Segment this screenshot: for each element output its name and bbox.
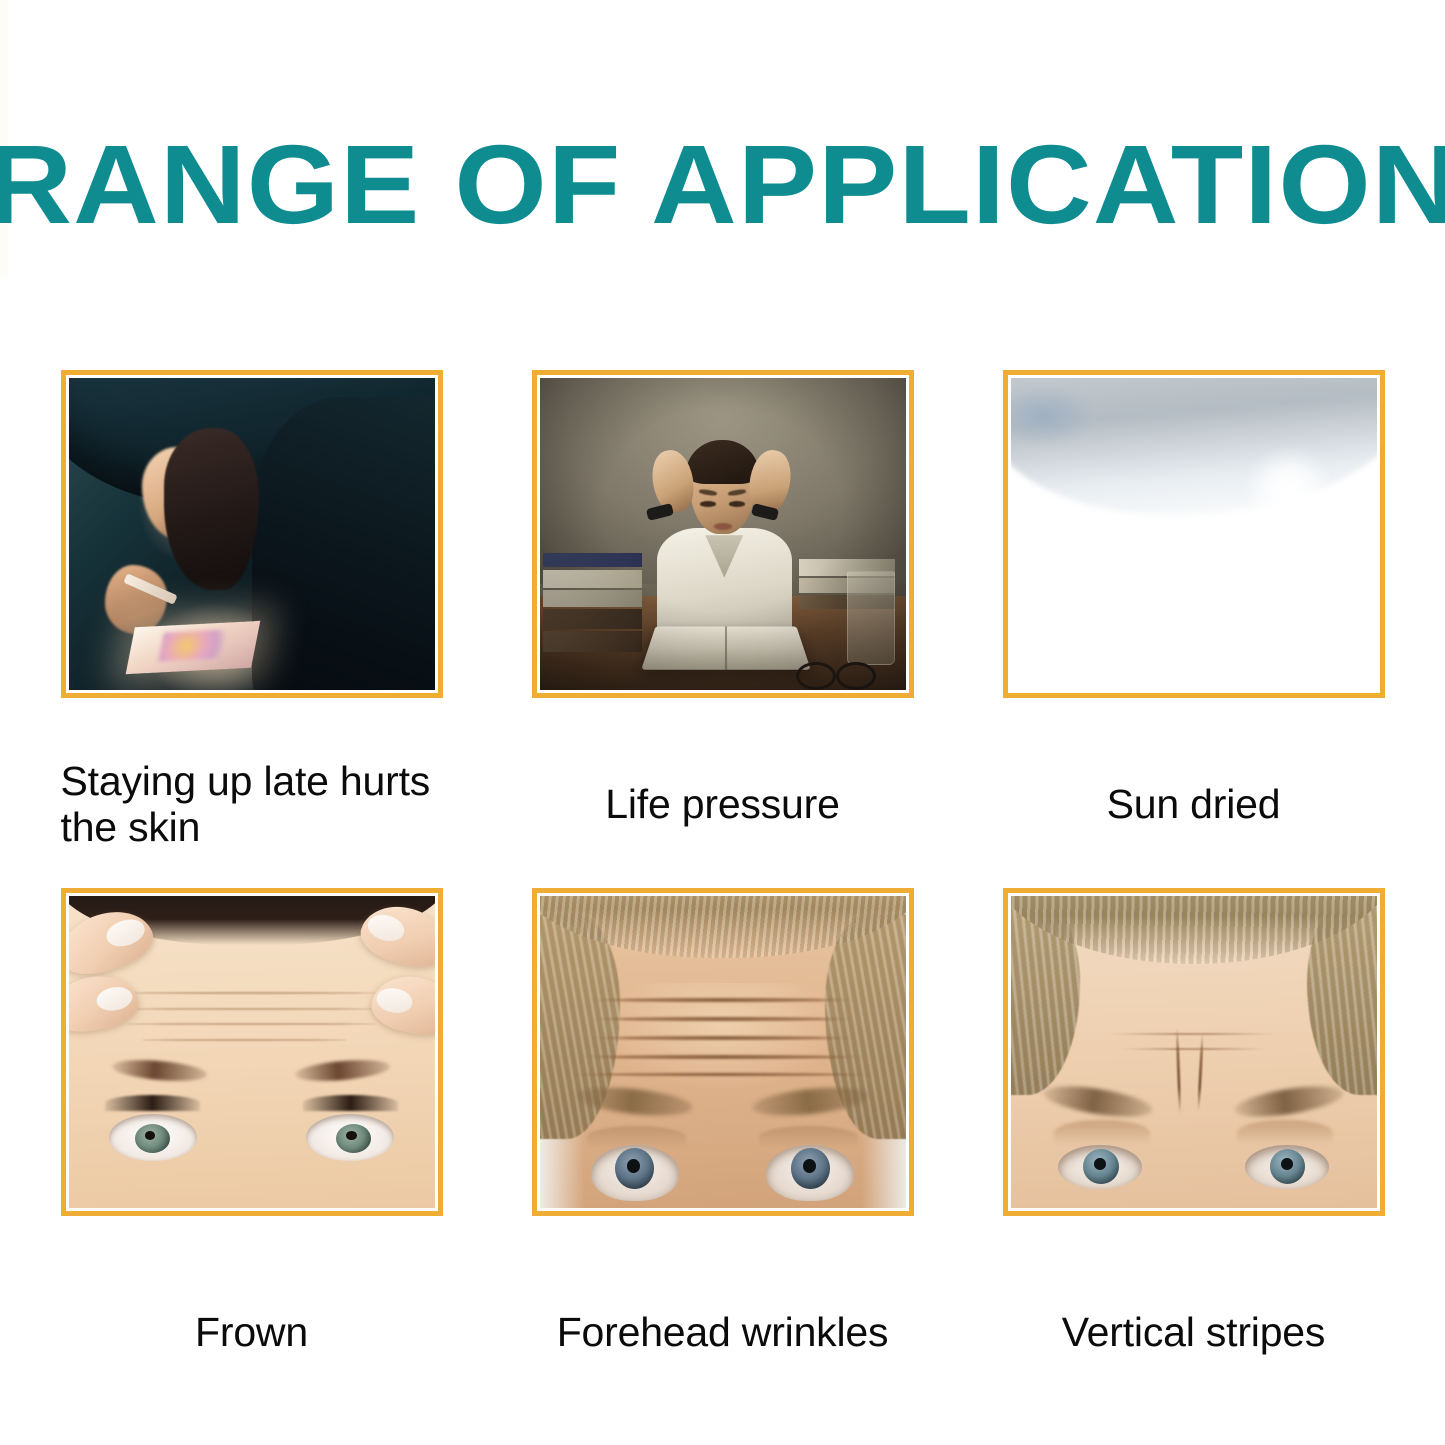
- frown-eyebrow-left: [112, 1057, 208, 1084]
- image-frame: [1003, 888, 1385, 1216]
- application-card-frown[interactable]: Frown: [61, 888, 443, 1406]
- sky-cloud-puff: [1223, 565, 1369, 634]
- caption-staying-up-late: Staying up late hurts the skin: [61, 698, 443, 888]
- frown-forehead-line: [142, 1039, 347, 1041]
- night-phone-screen: [125, 621, 260, 674]
- caption-sun-dried: Sun dried: [1003, 698, 1385, 888]
- wrinkle-eye-right: [766, 1145, 854, 1201]
- application-grid: Staying up late hurts the skin: [0, 370, 1445, 1445]
- frown-lash-right: [303, 1095, 398, 1111]
- page-title: RANGE OF APPLICATION: [0, 129, 1445, 241]
- caption-forehead-wrinkles: Forehead wrinkles: [532, 1216, 914, 1406]
- vertical-eye-right: [1245, 1145, 1329, 1189]
- vertical-eyebrow-left: [1042, 1081, 1154, 1123]
- frown-finger: [368, 970, 434, 1040]
- frown-eye-right: [306, 1114, 394, 1161]
- photo-sun-dried: [1011, 378, 1377, 690]
- image-frame: [532, 370, 914, 698]
- application-card-life-pressure[interactable]: Life pressure: [532, 370, 914, 888]
- application-card-staying-up-late[interactable]: Staying up late hurts the skin: [61, 370, 443, 888]
- frown-eyebrow-right: [295, 1057, 391, 1084]
- iris: [615, 1148, 654, 1188]
- photo-frown: [69, 896, 435, 1208]
- application-card-sun-dried[interactable]: Sun dried: [1003, 370, 1385, 888]
- frown-finger: [69, 969, 142, 1036]
- iris: [336, 1124, 371, 1153]
- application-card-vertical-stripes[interactable]: Vertical stripes: [1003, 888, 1385, 1406]
- frown-forehead-line: [127, 1008, 376, 1010]
- vertical-forehead-line: [1106, 1033, 1282, 1035]
- caption-frown: Frown: [61, 1216, 443, 1406]
- image-frame: [61, 888, 443, 1216]
- night-hair: [164, 428, 259, 590]
- iris: [1083, 1149, 1118, 1184]
- iris: [791, 1148, 830, 1188]
- wrinkle-eye-left: [591, 1145, 679, 1201]
- image-frame: [532, 888, 914, 1216]
- sky-cloud-puff: [1179, 640, 1274, 681]
- vertical-forehead-line: [1117, 1048, 1271, 1050]
- photo-forehead-wrinkles: [540, 896, 906, 1208]
- night-hand: [105, 565, 167, 634]
- title-section: RANGE OF APPLICATION: [0, 0, 1445, 370]
- fingernail: [365, 911, 407, 945]
- photo-life-pressure: [540, 378, 906, 690]
- vertical-eyelid-right: [1237, 1120, 1332, 1145]
- sun-glare: [1241, 447, 1336, 534]
- infographic-page: RANGE OF APPLICATION Staying up late hur…: [0, 0, 1445, 1445]
- image-frame: [61, 370, 443, 698]
- sky-cloud-puff: [1018, 528, 1157, 590]
- frown-forehead-line: [127, 1023, 376, 1025]
- fingernail: [102, 915, 148, 951]
- forehead-wrinkle-line: [591, 1036, 855, 1040]
- stress-vignette: [540, 378, 906, 690]
- vertical-eyelid-left: [1054, 1120, 1149, 1145]
- caption-life-pressure: Life pressure: [532, 698, 914, 888]
- vertical-eye-left: [1058, 1145, 1142, 1189]
- frown-lash-left: [105, 1095, 200, 1111]
- application-card-forehead-wrinkles[interactable]: Forehead wrinkles: [532, 888, 914, 1406]
- forehead-wrinkle-line: [580, 1055, 865, 1059]
- glabellar-vertical-line: [1197, 1033, 1204, 1111]
- image-frame: [1003, 370, 1385, 698]
- vertical-eyebrow-right: [1232, 1081, 1344, 1123]
- caption-vertical-stripes: Vertical stripes: [1003, 1216, 1385, 1406]
- photo-staying-up-late: [69, 378, 435, 690]
- glabellar-vertical-line: [1175, 1027, 1181, 1114]
- iris: [1270, 1149, 1305, 1184]
- photo-vertical-stripes: [1011, 896, 1377, 1208]
- frown-eye-left: [109, 1114, 197, 1161]
- fingernail: [375, 985, 414, 1015]
- fingernail: [95, 984, 135, 1013]
- sky-cloud-puff: [1011, 387, 1092, 443]
- frown-forehead-line: [127, 992, 376, 994]
- iris: [135, 1124, 170, 1153]
